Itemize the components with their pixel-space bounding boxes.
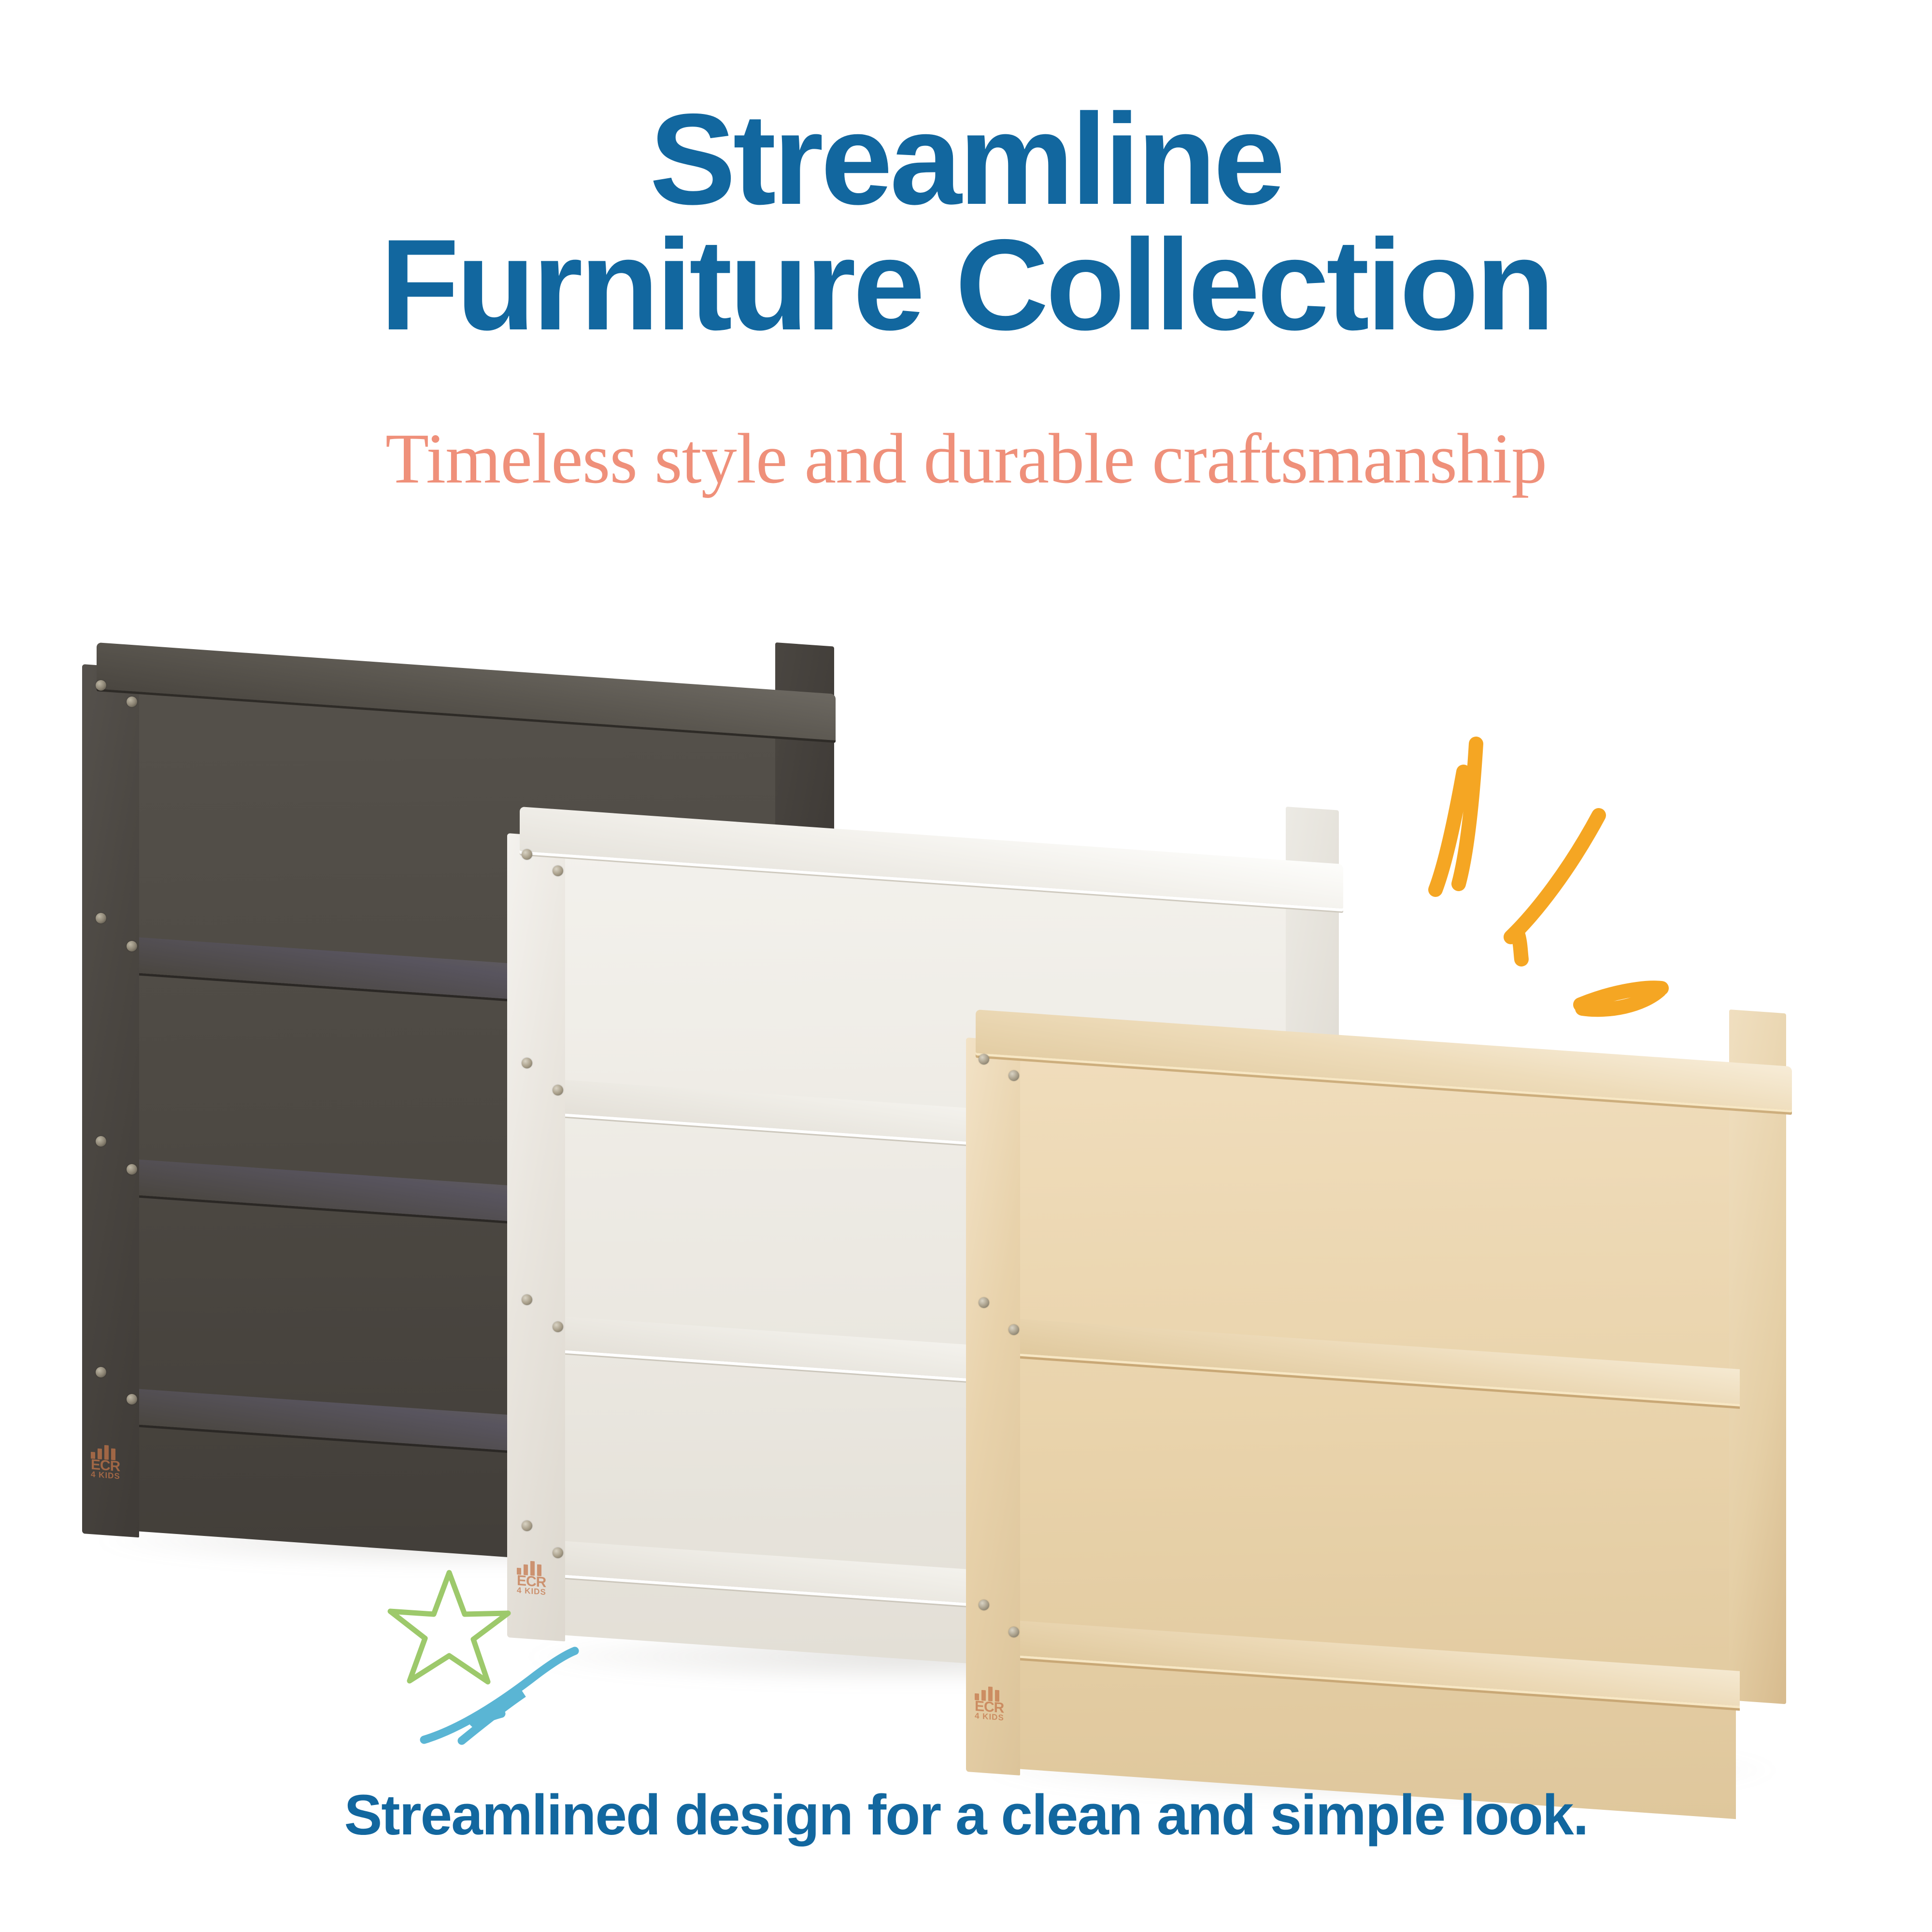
screw bbox=[979, 1054, 989, 1065]
screw bbox=[96, 913, 106, 923]
screw bbox=[127, 1394, 137, 1405]
wood-side-left bbox=[966, 1037, 1020, 1776]
screw bbox=[979, 1297, 989, 1308]
product-shelf-natural[interactable]: ECR 4 KIDS bbox=[966, 1009, 1850, 1821]
screw bbox=[979, 1600, 989, 1610]
screw bbox=[553, 1085, 563, 1095]
wood-back-panel bbox=[1016, 1044, 1736, 1819]
screw bbox=[1009, 1627, 1019, 1637]
screw bbox=[522, 1520, 532, 1531]
screw bbox=[553, 1321, 563, 1332]
headline-line-2: Furniture Collection bbox=[0, 222, 1932, 348]
page-subtitle: Timeless style and durable craftsmanship bbox=[0, 418, 1932, 500]
screw bbox=[522, 1058, 532, 1068]
footer-caption: Streamlined design for a clean and simpl… bbox=[0, 1782, 1932, 1848]
poster-canvas: Streamline Furniture Collection Timeless… bbox=[0, 0, 1932, 1932]
headline-line-1: Streamline bbox=[650, 86, 1282, 231]
screw bbox=[127, 696, 137, 707]
white-side-left bbox=[507, 833, 565, 1641]
screw bbox=[127, 1164, 137, 1175]
dark-side-left bbox=[82, 664, 139, 1537]
screw bbox=[96, 680, 106, 691]
screw bbox=[553, 1548, 563, 1558]
brand-logo-stamp: ECR 4 KIDS bbox=[91, 1442, 149, 1484]
screw bbox=[522, 849, 532, 860]
screw bbox=[553, 866, 563, 876]
screw bbox=[1009, 1324, 1019, 1335]
brand-logo-stamp: ECR 4 KIDS bbox=[975, 1684, 1033, 1725]
screw bbox=[522, 1294, 532, 1305]
screw bbox=[127, 941, 137, 952]
product-stage: ECR 4 KIDS ECR bbox=[0, 580, 1932, 1739]
screw bbox=[96, 1367, 106, 1378]
page-title: Streamline Furniture Collection bbox=[0, 97, 1932, 348]
wood-side-right bbox=[1729, 1009, 1786, 1704]
brand-logo-stamp: ECR 4 KIDS bbox=[517, 1558, 575, 1600]
screw bbox=[96, 1136, 106, 1147]
screw bbox=[1009, 1070, 1019, 1081]
